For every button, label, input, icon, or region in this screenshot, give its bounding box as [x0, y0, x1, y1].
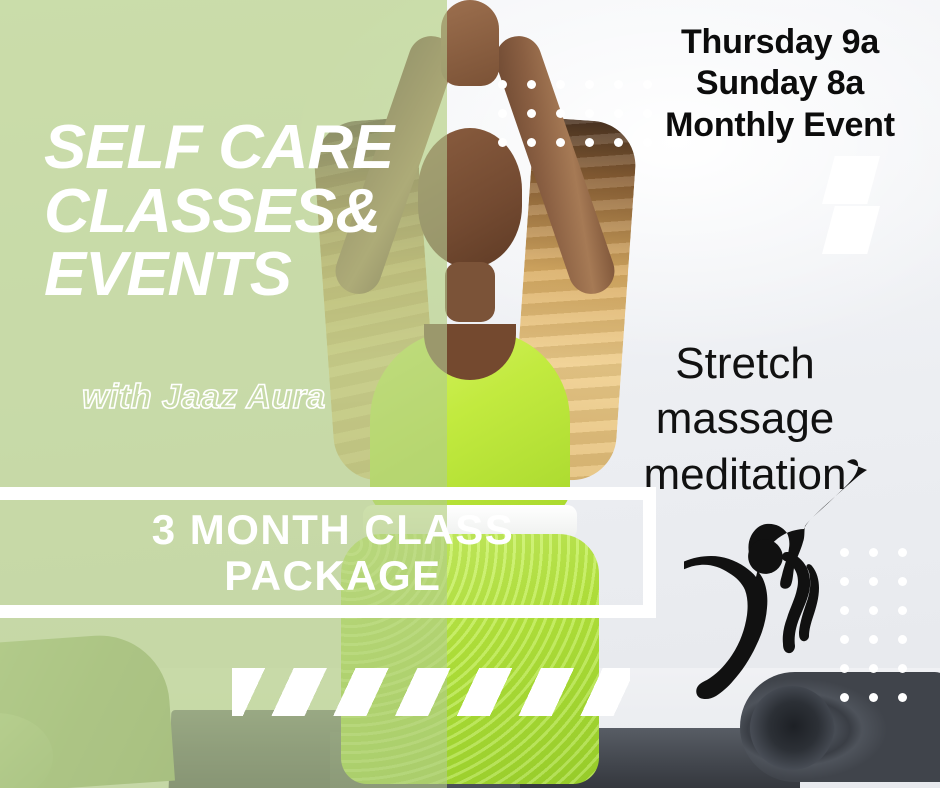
dot-grid-top-icon	[498, 80, 648, 160]
dot	[556, 109, 565, 118]
headline-block: SELF CARE CLASSES& EVENTS	[44, 118, 444, 305]
dot	[527, 109, 536, 118]
dot	[614, 109, 623, 118]
service-stretch: Stretch	[600, 336, 890, 391]
dot	[585, 138, 594, 147]
service-massage: massage	[600, 391, 890, 446]
package-line-2: PACKAGE	[198, 553, 441, 598]
dot	[614, 80, 623, 89]
headline-line-3: EVENTS	[44, 245, 452, 305]
dot	[498, 80, 507, 89]
dot	[498, 109, 507, 118]
dot	[498, 138, 507, 147]
dot	[527, 80, 536, 89]
prayer-hands	[441, 0, 499, 86]
yoga-lunge-silhouette-icon	[684, 448, 904, 788]
schedule-block: Thursday 9a Sunday 8a Monthly Event	[630, 22, 930, 146]
headline-line-1: SELF CARE	[44, 118, 452, 178]
schedule-line-thursday: Thursday 9a	[630, 22, 930, 63]
schedule-line-monthly: Monthly Event	[630, 105, 930, 146]
package-banner-text: 3 MONTH CLASS PACKAGE	[0, 500, 643, 605]
dot	[527, 138, 536, 147]
byline-instructor-name: with Jaaz Aura	[82, 378, 326, 417]
neck	[445, 262, 495, 322]
package-banner: 3 MONTH CLASS PACKAGE	[0, 487, 656, 618]
headline-line-2: CLASSES&	[44, 182, 452, 242]
dot	[614, 138, 623, 147]
dot	[585, 109, 594, 118]
dot	[556, 138, 565, 147]
dot	[556, 80, 565, 89]
package-line-1: 3 MONTH CLASS	[126, 507, 515, 552]
diagonal-stripes-decor	[232, 668, 630, 716]
schedule-line-sunday: Sunday 8a	[630, 63, 930, 104]
self-care-promo-flyer: SELF CARE CLASSES& EVENTS with Jaaz Aura…	[0, 0, 940, 788]
dot	[585, 80, 594, 89]
